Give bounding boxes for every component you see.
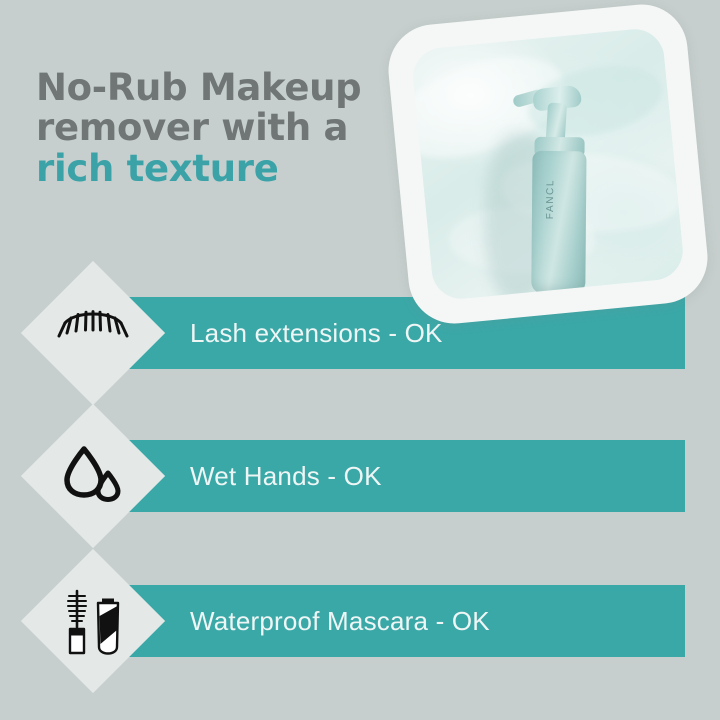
water-drop-icon bbox=[53, 436, 133, 516]
pump-bottle: FANCL bbox=[519, 79, 599, 295]
page-title: No-Rub Makeup remover with a rich textur… bbox=[36, 68, 416, 189]
infographic-canvas: No-Rub Makeup remover with a rich textur… bbox=[0, 0, 720, 720]
gel-texture-background: FANCL bbox=[411, 27, 686, 302]
headline-line-3-accent: rich texture bbox=[36, 149, 416, 189]
headline-line-2: remover with a bbox=[36, 108, 416, 148]
mascara-icon bbox=[53, 581, 133, 661]
feature-label: Lash extensions - OK bbox=[190, 297, 443, 369]
headline-line-1: No-Rub Makeup bbox=[36, 68, 416, 108]
brand-label: FANCL bbox=[545, 179, 556, 219]
product-image-card: FANCL bbox=[384, 0, 711, 327]
feature-label: Waterproof Mascara - OK bbox=[190, 585, 490, 657]
bottle-body: FANCL bbox=[531, 151, 586, 294]
feature-bar bbox=[100, 440, 685, 512]
feature-label: Wet Hands - OK bbox=[190, 440, 382, 512]
eyelash-icon bbox=[53, 293, 133, 373]
